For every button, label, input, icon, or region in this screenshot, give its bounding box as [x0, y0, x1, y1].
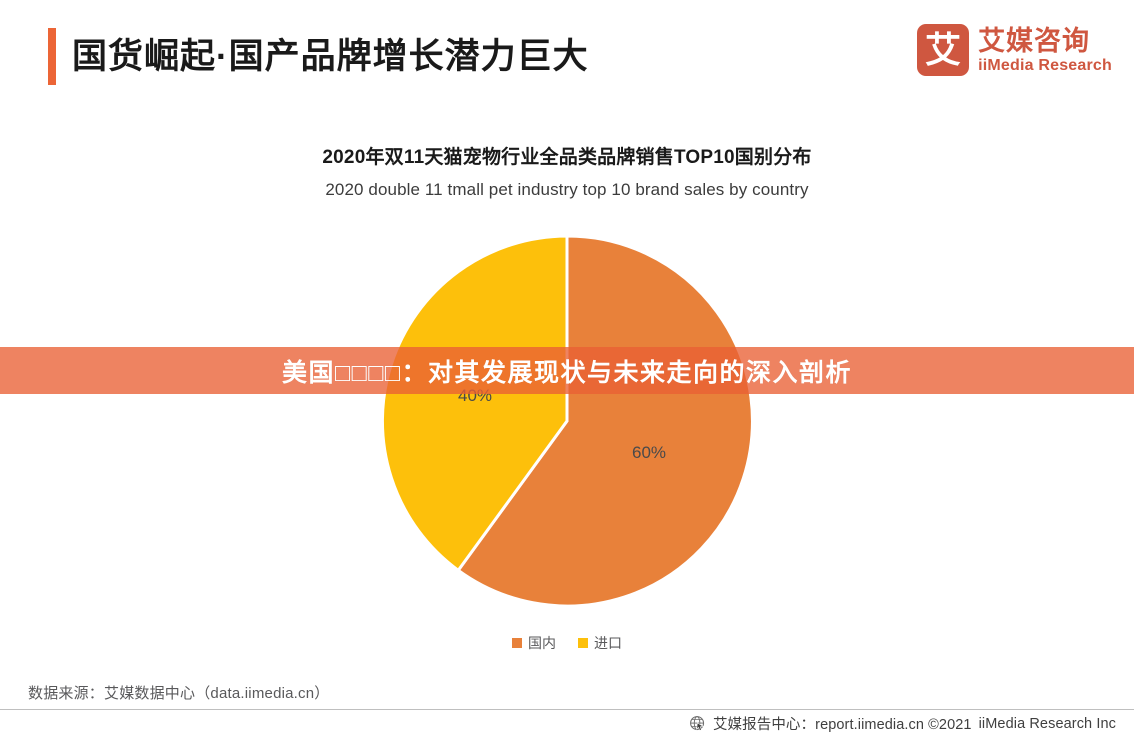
- chart-subtitle: 2020 double 11 tmall pet industry top 10…: [0, 180, 1134, 200]
- brand-name-cn: 艾媒咨询: [978, 26, 1112, 56]
- chart-legend: 国内 进口: [0, 633, 1134, 653]
- legend-swatch-domestic: [512, 638, 522, 648]
- slide-canvas: 国货崛起·国产品牌增长潜力巨大 艾 艾媒咨询 iiMedia Research …: [0, 0, 1134, 737]
- legend-label-domestic: 国内: [528, 633, 556, 653]
- header-accent-bar: [48, 28, 56, 85]
- legend-swatch-imported: [578, 638, 588, 648]
- overlay-banner: 美国□□□□：对其发展现状与未来走向的深入剖析: [0, 347, 1134, 394]
- brand-mark-icon: 艾: [917, 24, 969, 76]
- legend-label-imported: 进口: [594, 633, 622, 653]
- pie-label-domestic: 60%: [632, 443, 666, 463]
- pie-chart: 40% 60%: [380, 234, 754, 608]
- header: 国货崛起·国产品牌增长潜力巨大 艾 艾媒咨询 iiMedia Research: [0, 0, 1134, 104]
- source-note: 数据来源：艾媒数据中心（data.iimedia.cn）: [28, 682, 330, 703]
- brand-text: 艾媒咨询 iiMedia Research: [978, 26, 1112, 75]
- brand-name-en: iiMedia Research: [978, 56, 1112, 75]
- footer-company: iiMedia Research Inc: [979, 716, 1116, 732]
- globe-cursor-icon: [689, 715, 706, 732]
- brand-logo: 艾 艾媒咨询 iiMedia Research: [917, 24, 1112, 76]
- page-title: 国货崛起·国产品牌增长潜力巨大: [72, 28, 589, 85]
- chart-title: 2020年双11天猫宠物行业全品类品牌销售TOP10国别分布: [0, 142, 1134, 169]
- pie-chart-svg: [380, 234, 754, 608]
- overlay-banner-text: 美国□□□□：对其发展现状与未来走向的深入剖析: [282, 353, 852, 389]
- legend-item-imported[interactable]: 进口: [578, 633, 622, 653]
- legend-item-domestic[interactable]: 国内: [512, 633, 556, 653]
- footer-report-center: 艾媒报告中心：report.iimedia.cn ©2021: [713, 713, 972, 734]
- footer-bar: 艾媒报告中心：report.iimedia.cn ©2021 iiMedia R…: [0, 710, 1134, 737]
